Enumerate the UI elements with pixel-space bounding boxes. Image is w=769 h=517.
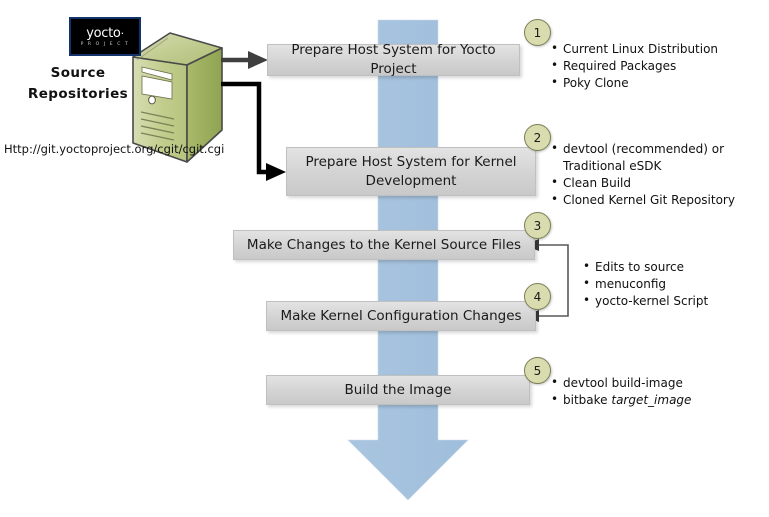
note-item: Clean Build xyxy=(551,175,735,192)
source-label-line-1: Source xyxy=(14,63,142,84)
step-number-circle-3: 3 xyxy=(524,212,551,239)
step-number-circle-4: 4 xyxy=(524,283,551,310)
source-repositories-url: Http://git.yoctoproject.org/cgit/cgit.cg… xyxy=(4,142,234,156)
notes-list-steps-3-4: Edits to source menuconfig yocto-kernel … xyxy=(583,259,708,310)
note-item: Edits to source xyxy=(583,259,708,276)
note-item-emphasis: target_image xyxy=(611,393,691,407)
step-number-4: 4 xyxy=(534,290,542,304)
note-item: devtool build-image xyxy=(551,375,691,392)
process-box-step-5[interactable]: Build the Image xyxy=(266,375,530,405)
process-box-step-3-label: Make Changes to the Kernel Source Files xyxy=(247,236,521,255)
yocto-logo-dot: · xyxy=(121,27,124,40)
yocto-logo-text: yocto xyxy=(86,26,120,41)
step-number-circle-2: 2 xyxy=(524,124,551,151)
notes-list-step-2: devtool (recommended) or Traditional eSD… xyxy=(551,141,735,209)
source-label-line-2: Repositories xyxy=(14,84,142,105)
process-box-step-1-label: Prepare Host System for Yocto Project xyxy=(268,41,519,79)
process-box-step-1[interactable]: Prepare Host System for Yocto Project xyxy=(267,44,520,76)
note-item: Current Linux Distribution xyxy=(551,41,718,58)
note-item-prefix: bitbake xyxy=(563,393,611,407)
process-box-step-2-label-line-2: Development xyxy=(366,172,457,191)
step-number-5: 5 xyxy=(534,364,542,378)
note-item: Required Packages xyxy=(551,58,718,75)
step-number-circle-1: 1 xyxy=(524,19,551,46)
notes-list-step-5: devtool build-image bitbake target_image xyxy=(551,375,691,409)
process-box-step-5-label: Build the Image xyxy=(345,381,452,400)
source-repositories-label: Source Repositories xyxy=(14,63,142,105)
connector-server-to-step2 xyxy=(221,84,286,181)
process-box-step-4[interactable]: Make Kernel Configuration Changes xyxy=(266,301,536,331)
diagram-canvas: yocto· P R O J E C T Source Repositories… xyxy=(0,0,769,517)
yocto-project-logo: yocto· P R O J E C T xyxy=(69,17,141,56)
connector-server-to-step1 xyxy=(221,51,268,69)
note-item-continuation: Traditional eSDK xyxy=(551,158,735,175)
step-number-3: 3 xyxy=(534,219,542,233)
yocto-logo-subtext: P R O J E C T xyxy=(81,42,130,47)
step-number-circle-5: 5 xyxy=(524,357,551,384)
note-item: devtool (recommended) or xyxy=(551,141,735,158)
note-item: bitbake target_image xyxy=(551,392,691,409)
process-box-step-2-label-line-1: Prepare Host System for Kernel xyxy=(305,153,516,172)
main-flow-arrow xyxy=(348,20,468,500)
step-number-1: 1 xyxy=(534,26,542,40)
process-box-step-3[interactable]: Make Changes to the Kernel Source Files xyxy=(233,230,535,260)
note-item: yocto-kernel Script xyxy=(583,293,708,310)
process-box-step-4-label: Make Kernel Configuration Changes xyxy=(280,307,521,326)
step-number-2: 2 xyxy=(534,131,542,145)
process-box-step-2[interactable]: Prepare Host System for Kernel Developme… xyxy=(286,147,536,196)
note-item: menuconfig xyxy=(583,276,708,293)
notes-list-step-1: Current Linux Distribution Required Pack… xyxy=(551,41,718,92)
note-item: Poky Clone xyxy=(551,75,718,92)
yocto-logo-wordmark: yocto· xyxy=(86,27,124,40)
note-item: Cloned Kernel Git Repository xyxy=(551,192,735,209)
